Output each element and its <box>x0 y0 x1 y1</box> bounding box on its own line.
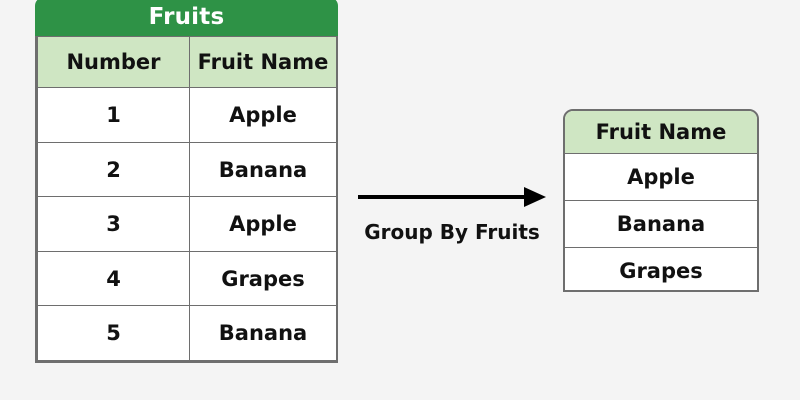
cell-fruit-name: Banana <box>190 142 337 197</box>
table-row: Banana <box>565 201 757 248</box>
cell-fruit-name: Apple <box>565 154 757 201</box>
source-table-header-row: Number Fruit Name <box>38 37 337 88</box>
source-table: Fruits Number Fruit Name 1 Apple 2 Banan… <box>35 36 338 363</box>
cell-fruit-name: Apple <box>190 88 337 143</box>
table-row: 2 Banana <box>38 142 337 197</box>
table-row: Grapes <box>565 248 757 293</box>
transform-caption-text: Group By Fruits <box>364 220 540 244</box>
table-row: 3 Apple <box>38 197 337 252</box>
cell-fruit-name: Banana <box>190 306 337 361</box>
cell-number: 4 <box>38 251 190 306</box>
table-row: 5 Banana <box>38 306 337 361</box>
cell-fruit-name: Grapes <box>190 251 337 306</box>
column-header-number: Number <box>38 37 190 88</box>
source-table-grid: Number Fruit Name 1 Apple 2 Banana 3 App… <box>37 36 337 361</box>
arrow-right-svg <box>356 184 548 210</box>
column-header-fruit-name: Fruit Name <box>190 37 337 88</box>
cell-fruit-name: Grapes <box>565 248 757 293</box>
table-row: 4 Grapes <box>38 251 337 306</box>
cell-number: 3 <box>38 197 190 252</box>
result-table: Fruit Name Apple Banana Grapes <box>563 109 759 292</box>
result-table-header-row: Fruit Name <box>565 111 757 154</box>
transform-caption: Group By Fruits <box>356 220 548 244</box>
cell-number: 1 <box>38 88 190 143</box>
arrow-right-icon <box>356 184 548 210</box>
source-table-title-bar: Fruits <box>35 0 338 36</box>
cell-number: 2 <box>38 142 190 197</box>
table-row: 1 Apple <box>38 88 337 143</box>
result-table-grid: Fruit Name Apple Banana Grapes <box>565 111 757 292</box>
diagram-canvas: Fruits Number Fruit Name 1 Apple 2 Banan… <box>0 0 800 400</box>
cell-fruit-name: Banana <box>565 201 757 248</box>
table-row: Apple <box>565 154 757 201</box>
source-table-title: Fruits <box>149 4 225 30</box>
cell-fruit-name: Apple <box>190 197 337 252</box>
cell-number: 5 <box>38 306 190 361</box>
column-header-fruit-name: Fruit Name <box>565 111 757 154</box>
